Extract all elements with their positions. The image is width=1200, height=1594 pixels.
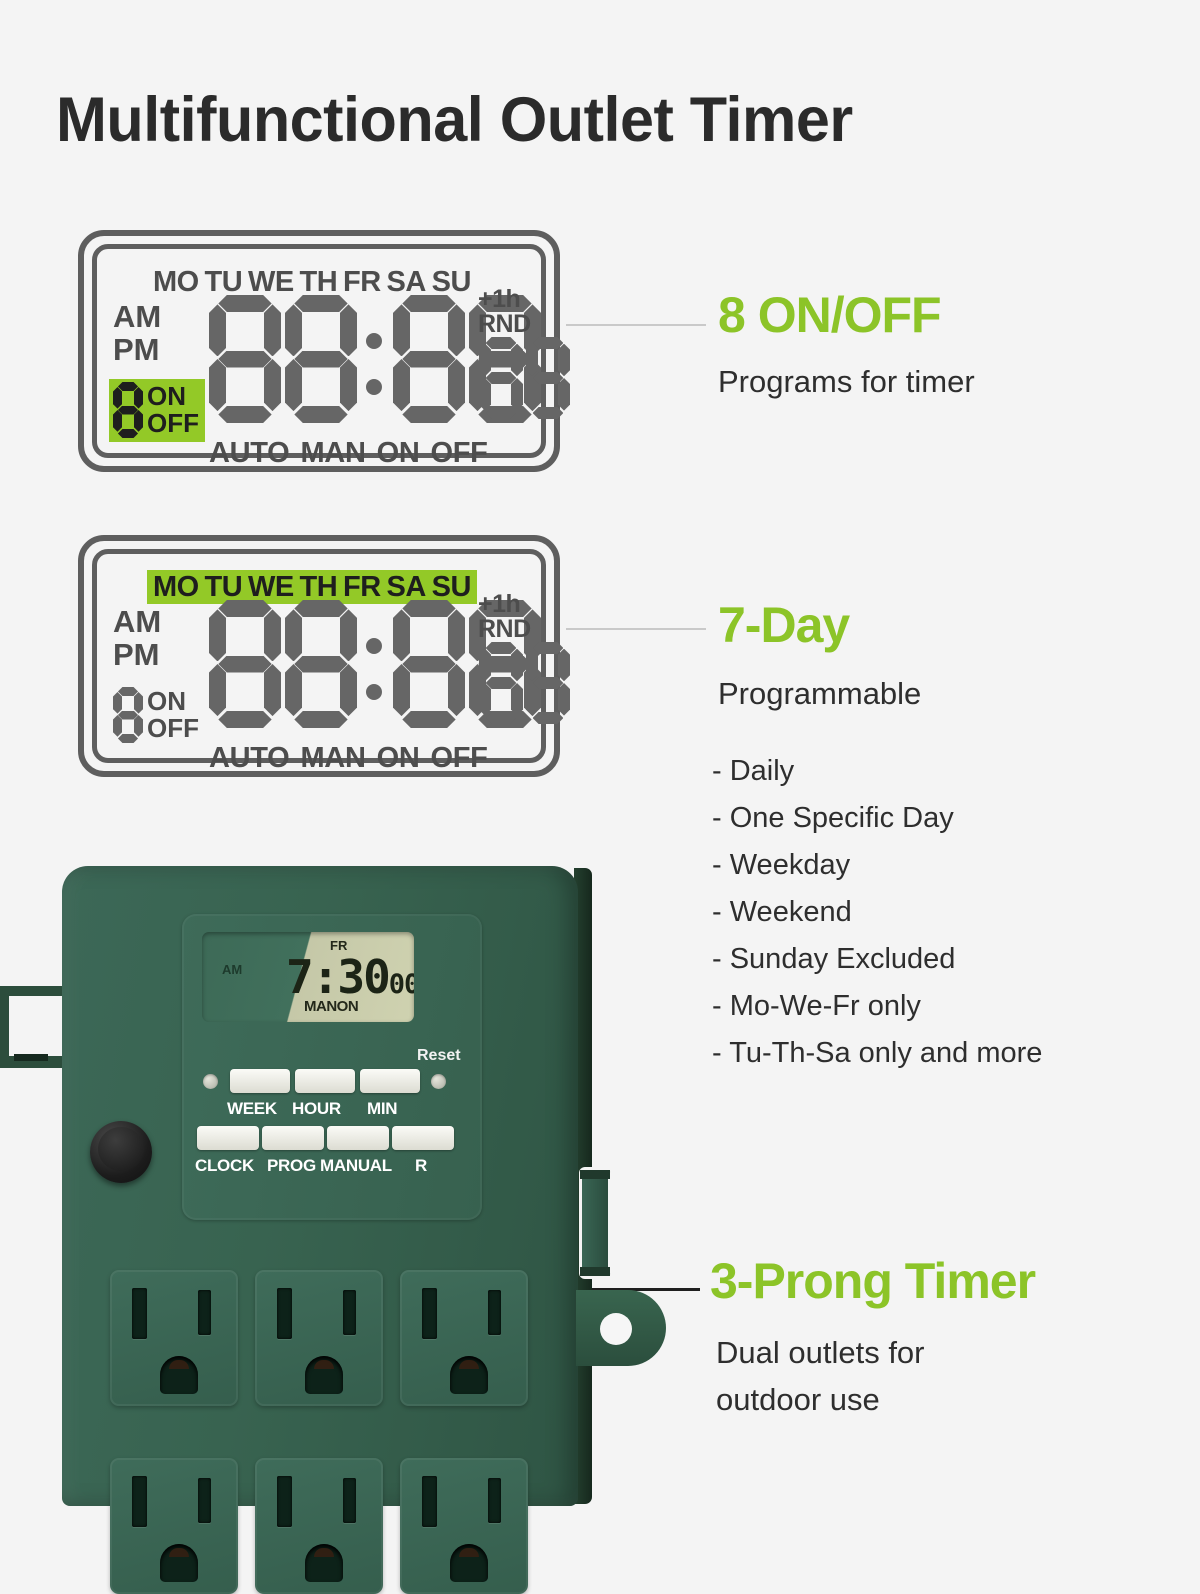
r-button[interactable]	[392, 1126, 454, 1150]
lcd-face: MO TU WE TH FR SA SU AM PM ON OFF	[97, 249, 541, 453]
minute-tens	[393, 295, 465, 423]
rnd-label: RND	[478, 617, 531, 642]
callout-connector-line-2	[566, 628, 706, 630]
pm-label: PM	[113, 334, 161, 367]
list-item: - Weekend	[712, 889, 1042, 936]
off-label: OFF	[147, 715, 199, 742]
lcd1-ampm: AM PM	[113, 301, 161, 367]
list-item: - Mo-We-Fr only	[712, 983, 1042, 1030]
callout-heading-7-day: 7-Day	[718, 596, 849, 654]
callout-heading-3-prong: 3-Prong Timer	[710, 1252, 1035, 1310]
device-time-value: 7:30	[286, 950, 389, 1004]
lcd1-program-indicator: ON OFF	[109, 379, 205, 442]
mounting-tab	[576, 1290, 666, 1366]
lcd2-mode-row: AUTO MAN ON OFF	[209, 742, 488, 775]
mode-off: OFF	[431, 742, 488, 775]
device-seconds: 00	[389, 969, 414, 1000]
list-item: - One Specific Day	[712, 795, 1042, 842]
day-tu: TU	[205, 571, 243, 604]
r-button-label: R	[415, 1156, 427, 1176]
callout-subtitle-8-onoff: Programs for timer	[718, 364, 975, 400]
pm-label: PM	[113, 639, 161, 672]
day-su: SU	[432, 266, 471, 299]
subtitle-line-2: outdoor use	[716, 1377, 925, 1424]
callout-subtitle-3-prong: Dual outlets for outdoor use	[716, 1330, 925, 1423]
on-label: ON	[147, 688, 199, 715]
second-tens	[479, 642, 523, 724]
lcd2-plus1h-rnd: +1h RND	[478, 592, 531, 642]
lcd1-seconds	[479, 337, 573, 419]
day-mo: MO	[153, 266, 199, 299]
page-title: Multifunctional Outlet Timer	[56, 84, 853, 156]
onoff-labels: ON OFF	[147, 688, 199, 741]
list-item: - Weekday	[712, 842, 1042, 889]
hour-button[interactable]	[295, 1069, 355, 1093]
onoff-labels: ON OFF	[147, 383, 199, 436]
lcd1-day-row: MO TU WE TH FR SA SU	[147, 265, 477, 299]
mode-auto: AUTO	[209, 742, 289, 775]
list-item: - Daily	[712, 748, 1042, 795]
control-panel: AM FR 7:3000 MANON Reset WEEK HOUR MIN	[182, 914, 482, 1220]
colon	[361, 295, 387, 423]
day-th: TH	[300, 571, 338, 604]
day-we: WE	[248, 266, 294, 299]
lcd2-seconds	[479, 642, 573, 724]
rubber-knob[interactable]	[90, 1121, 152, 1183]
rnd-label: RND	[478, 312, 531, 337]
reset-button[interactable]	[431, 1074, 446, 1089]
second-ones	[526, 642, 570, 724]
plus-1h-label: +1h	[478, 287, 531, 312]
day-sa: SA	[387, 571, 426, 604]
list-item: - Tu-Th-Sa only and more	[712, 1030, 1042, 1077]
lcd-face: MO TU WE TH FR SA SU AM PM ON OFF	[97, 554, 541, 758]
callout-subtitle-7-day: Programmable	[718, 676, 921, 712]
outlet-socket[interactable]	[110, 1458, 238, 1594]
hour-button-label: HOUR	[292, 1099, 341, 1119]
manual-button[interactable]	[327, 1126, 389, 1150]
product-photo: AM FR 7:3000 MANON Reset WEEK HOUR MIN	[0, 838, 700, 1500]
device-lcd-screen: AM FR 7:3000 MANON	[202, 932, 414, 1022]
callout-connector-line-1	[566, 324, 706, 326]
mode-on: ON	[377, 437, 420, 470]
lcd2-program-indicator: ON OFF	[109, 684, 205, 747]
week-button-label: WEEK	[227, 1099, 277, 1119]
subtitle-line-1: Dual outlets for	[716, 1330, 925, 1377]
prog-button[interactable]	[262, 1126, 324, 1150]
clock-button-label: CLOCK	[195, 1156, 254, 1176]
am-label: AM	[113, 606, 161, 639]
infographic-page: Multifunctional Outlet Timer MO TU WE TH…	[0, 0, 1200, 1500]
outlet-socket[interactable]	[400, 1458, 528, 1594]
minute-tens	[393, 600, 465, 728]
lcd1-plus1h-rnd: +1h RND	[478, 287, 531, 337]
mode-man: MAN	[300, 742, 365, 775]
manual-button-label: MANUAL	[320, 1156, 392, 1176]
second-ones	[526, 337, 570, 419]
callout-bullet-list: - Daily - One Specific Day - Weekday - W…	[712, 748, 1042, 1077]
outlet-socket[interactable]	[255, 1270, 383, 1406]
device-mode-label: MANON	[304, 998, 358, 1015]
lcd-display-7-day: MO TU WE TH FR SA SU AM PM ON OFF	[78, 535, 560, 777]
lcd2-ampm: AM PM	[113, 606, 161, 672]
plus-1h-label: +1h	[478, 592, 531, 617]
lcd1-mode-row: AUTO MAN ON OFF	[209, 437, 488, 470]
mode-auto: AUTO	[209, 437, 289, 470]
cover-latch-clip[interactable]	[576, 1170, 618, 1276]
device-am-label: AM	[222, 962, 242, 977]
day-tu: TU	[205, 266, 243, 299]
device-time: 7:3000	[286, 950, 414, 1004]
day-we: WE	[248, 571, 294, 604]
status-led-indicator	[203, 1074, 218, 1089]
day-su: SU	[432, 571, 471, 604]
lcd-bezel-inner: MO TU WE TH FR SA SU AM PM ON OFF	[92, 549, 546, 763]
lcd-display-8-onoff: MO TU WE TH FR SA SU AM PM ON OFF	[78, 230, 560, 472]
min-button-label: MIN	[367, 1099, 397, 1119]
program-digit	[113, 382, 143, 438]
lcd-bezel-inner: MO TU WE TH FR SA SU AM PM ON OFF	[92, 244, 546, 458]
hour-ones	[285, 600, 357, 728]
am-label: AM	[113, 301, 161, 334]
hour-tens	[209, 295, 281, 423]
week-button[interactable]	[230, 1069, 290, 1093]
mode-on: ON	[377, 742, 420, 775]
hour-tens	[209, 600, 281, 728]
day-fr: FR	[343, 266, 381, 299]
prog-button-label: PROG	[267, 1156, 316, 1176]
day-fr: FR	[343, 571, 381, 604]
lcd2-day-row: MO TU WE TH FR SA SU	[147, 570, 477, 604]
mode-man: MAN	[300, 437, 365, 470]
colon	[361, 600, 387, 728]
outlet-socket[interactable]	[400, 1270, 528, 1406]
list-item: - Sunday Excluded	[712, 936, 1042, 983]
outlet-socket[interactable]	[255, 1458, 383, 1594]
off-label: OFF	[147, 410, 199, 437]
min-button[interactable]	[360, 1069, 420, 1093]
on-label: ON	[147, 383, 199, 410]
day-mo: MO	[153, 571, 199, 604]
day-th: TH	[300, 266, 338, 299]
device-body: AM FR 7:3000 MANON Reset WEEK HOUR MIN	[62, 866, 578, 1506]
hinge-bracket	[0, 986, 66, 1068]
clock-button[interactable]	[197, 1126, 259, 1150]
mode-off: OFF	[431, 437, 488, 470]
program-digit	[113, 687, 143, 743]
second-tens	[479, 337, 523, 419]
callout-heading-8-onoff: 8 ON/OFF	[718, 286, 941, 344]
day-sa: SA	[387, 266, 426, 299]
hour-ones	[285, 295, 357, 423]
reset-label: Reset	[417, 1047, 461, 1065]
outlet-socket[interactable]	[110, 1270, 238, 1406]
